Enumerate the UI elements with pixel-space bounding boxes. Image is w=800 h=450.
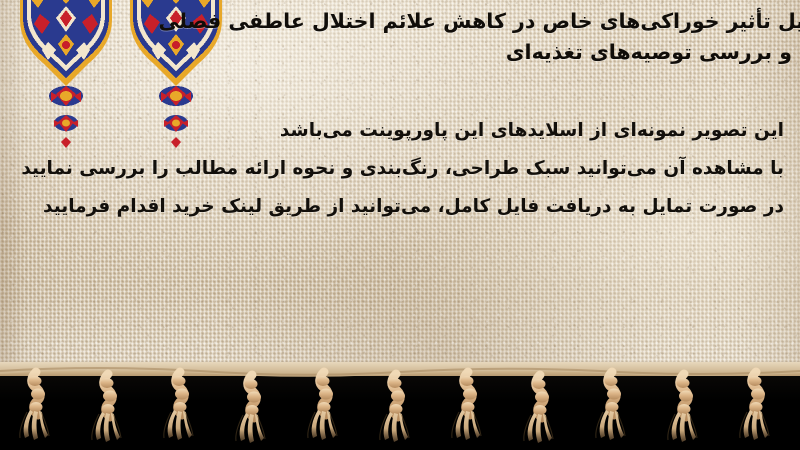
presentation-slide: یل تأثیر خوراکی‌های خاص در کاهش علائم اخ… bbox=[0, 0, 800, 450]
slide-body-line-1: این تصویر نمونه‌ای از اسلایدهای این پاور… bbox=[14, 112, 784, 150]
slide-title-line-2: و بررسی توصیه‌های تغذیه‌ای bbox=[12, 37, 792, 68]
slide-body: این تصویر نمونه‌ای از اسلایدهای این پاور… bbox=[14, 112, 784, 226]
slide-body-line-3: در صورت تمایل به دریافت فایل کامل، می‌تو… bbox=[14, 188, 784, 226]
slide-body-line-2: با مشاهده آن می‌توانید سبک طراحی، رنگ‌بن… bbox=[14, 150, 784, 188]
carpet-fringe bbox=[0, 362, 800, 450]
slide-title: یل تأثیر خوراکی‌های خاص در کاهش علائم اخ… bbox=[12, 6, 792, 68]
slide-title-line-1: یل تأثیر خوراکی‌های خاص در کاهش علائم اخ… bbox=[12, 6, 800, 37]
tassel-group bbox=[20, 372, 769, 443]
